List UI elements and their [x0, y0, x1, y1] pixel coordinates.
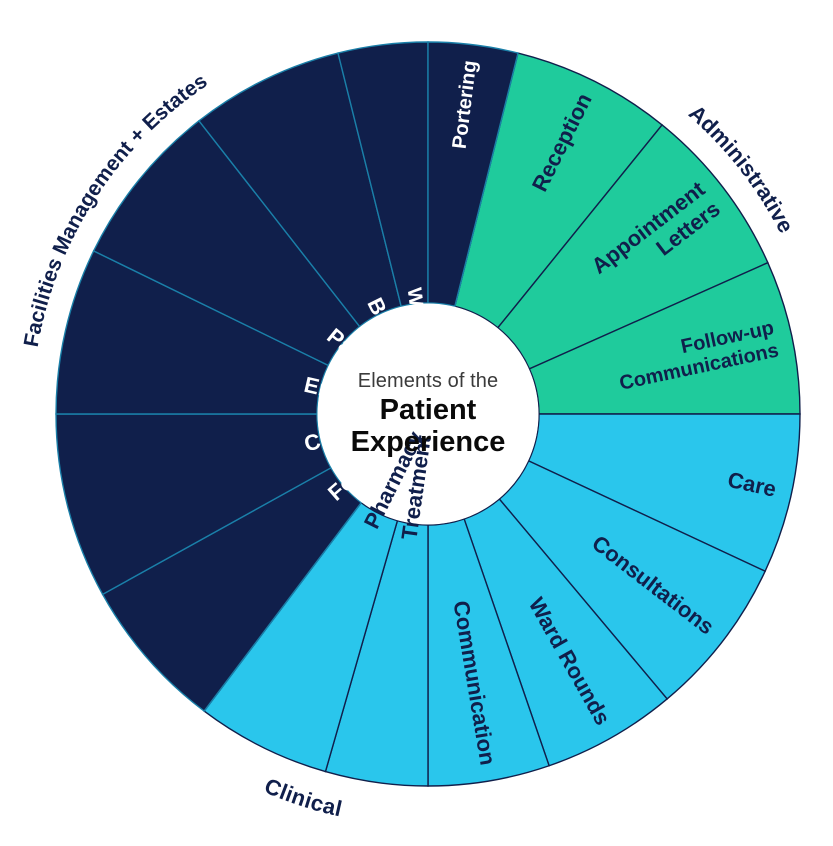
group-label-clinical: Clinical: [261, 773, 344, 821]
patient-experience-wheel: ReceptionAppointmentLettersFollow-upComm…: [0, 0, 833, 846]
wheel-svg: ReceptionAppointmentLettersFollow-upComm…: [0, 0, 833, 846]
group-label-text: Clinical: [261, 773, 344, 821]
